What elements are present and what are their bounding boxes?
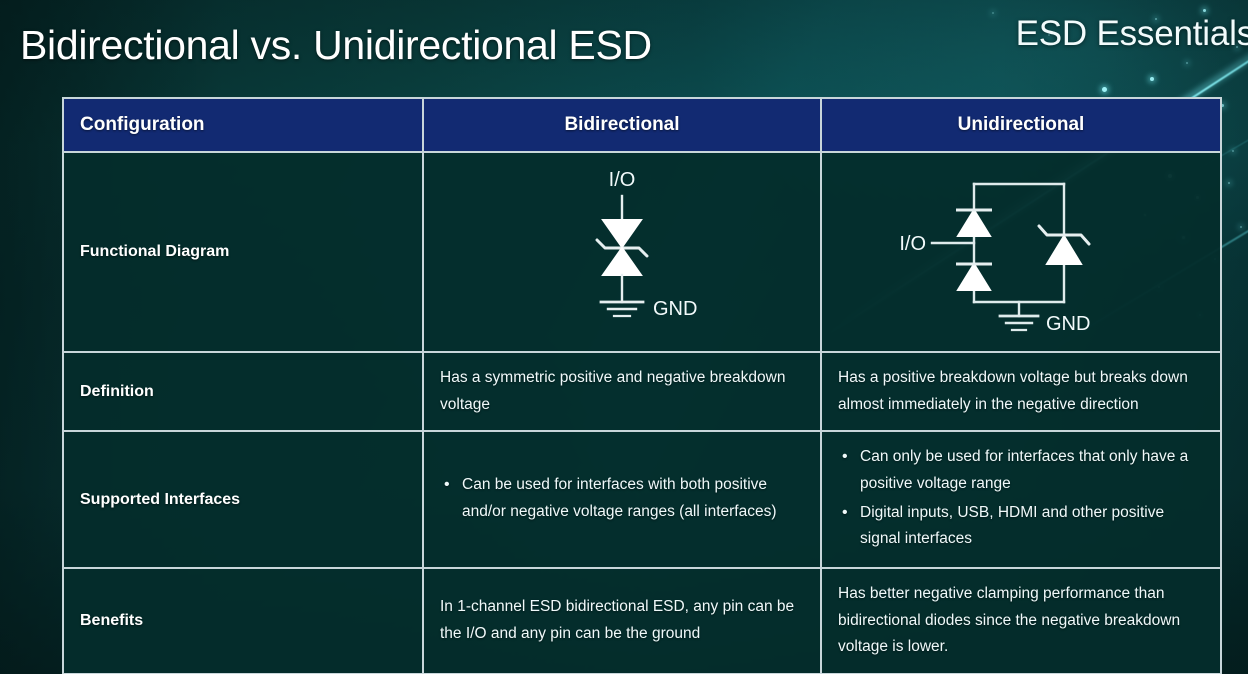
- row-label-benefits: Benefits: [64, 569, 424, 673]
- cell-definition-bidirectional: Has a symmetric positive and negative br…: [424, 353, 822, 432]
- slide-canvas: Bidirectional vs. Unidirectional ESD ESD…: [0, 0, 1248, 674]
- unidirectional-gnd-label: GND: [1046, 313, 1090, 335]
- page-title: Bidirectional vs. Unidirectional ESD: [20, 22, 652, 69]
- steering-diode-top-icon: [956, 210, 992, 236]
- slide-header: Bidirectional vs. Unidirectional ESD ESD…: [0, 0, 1248, 90]
- cell-benefits-bidirectional: In 1-channel ESD bidirectional ESD, any …: [424, 569, 822, 673]
- table-body: Functional Diagram: [64, 153, 1220, 673]
- series-label: ESD Essentials: [1016, 14, 1248, 54]
- comparison-table: Configuration Bidirectional Unidirection…: [62, 97, 1222, 674]
- table-row: Definition Has a symmetric positive and …: [64, 353, 1220, 432]
- row-label-supported-interfaces: Supported Interfaces: [64, 432, 424, 569]
- column-header-unidirectional: Unidirectional: [822, 99, 1220, 153]
- cell-unidirectional-diagram: I/O GND: [822, 153, 1220, 353]
- ground-symbol-icon: [1000, 302, 1038, 330]
- particle-icon: [1240, 226, 1242, 228]
- cell-interfaces-unidirectional: Can only be used for interfaces that onl…: [822, 432, 1220, 569]
- bullet-list: Can only be used for interfaces that onl…: [838, 444, 1204, 553]
- table-header: Configuration Bidirectional Unidirection…: [64, 99, 1220, 153]
- table-row: Supported Interfaces Can be used for int…: [64, 432, 1220, 569]
- bidirectional-tvs-diode-icon: I/O GND: [527, 162, 717, 342]
- unidirectional-io-label: I/O: [899, 233, 926, 255]
- row-label-definition: Definition: [64, 353, 424, 432]
- list-item: Digital inputs, USB, HDMI and other posi…: [838, 500, 1204, 553]
- steering-diode-bottom-icon: [956, 264, 992, 290]
- unidirectional-diode-bridge-icon: I/O GND: [896, 162, 1146, 342]
- particle-icon: [1228, 182, 1230, 184]
- list-item: Can only be used for interfaces that onl…: [838, 444, 1204, 497]
- column-header-configuration: Configuration: [64, 99, 424, 153]
- table-header-row: Configuration Bidirectional Unidirection…: [64, 99, 1220, 153]
- bullet-list: Can be used for interfaces with both pos…: [440, 472, 804, 525]
- list-item: Can be used for interfaces with both pos…: [440, 472, 804, 525]
- column-header-bidirectional: Bidirectional: [424, 99, 822, 153]
- row-label-functional-diagram: Functional Diagram: [64, 153, 424, 353]
- bidirectional-io-label: I/O: [609, 169, 636, 191]
- cell-interfaces-bidirectional: Can be used for interfaces with both pos…: [424, 432, 822, 569]
- table-row: Functional Diagram: [64, 153, 1220, 353]
- bidirectional-gnd-label: GND: [653, 298, 697, 320]
- cell-definition-unidirectional: Has a positive breakdown voltage but bre…: [822, 353, 1220, 432]
- cell-benefits-unidirectional: Has better negative clamping performance…: [822, 569, 1220, 673]
- table-row: Benefits In 1-channel ESD bidirectional …: [64, 569, 1220, 673]
- particle-icon: [1232, 150, 1234, 152]
- cell-bidirectional-diagram: I/O GND: [424, 153, 822, 353]
